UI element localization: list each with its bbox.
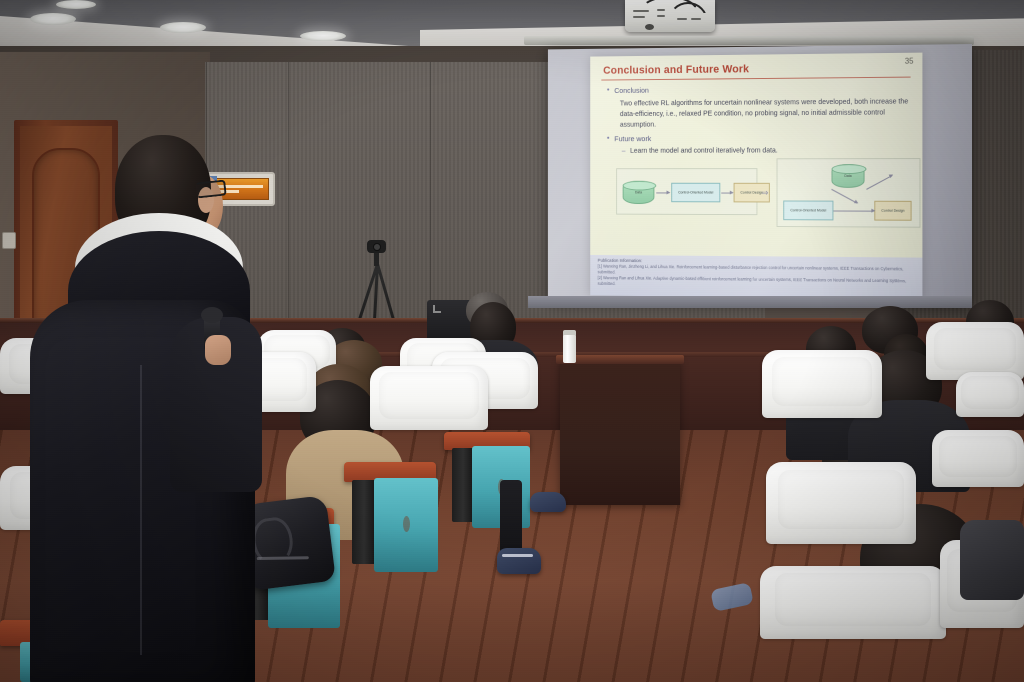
chair-cover bbox=[932, 430, 1024, 487]
chair bbox=[762, 350, 882, 460]
screen-bottom-bar bbox=[528, 296, 972, 308]
slide-footer: Publication Information: [1] Wanxing Ran… bbox=[590, 255, 922, 299]
projector-lens bbox=[645, 24, 654, 30]
figure-node-label: Data bbox=[844, 174, 851, 178]
camera-lens bbox=[373, 243, 381, 251]
chair-cover bbox=[370, 366, 488, 430]
chair-cover bbox=[766, 462, 916, 544]
ceiling-downlight bbox=[30, 13, 76, 25]
glasses-icon bbox=[195, 179, 227, 198]
light-switch[interactable] bbox=[2, 232, 16, 249]
shoe bbox=[530, 492, 566, 512]
figure-arrow bbox=[833, 211, 874, 212]
presenter-coat-zipper bbox=[140, 365, 142, 655]
tripod-column bbox=[374, 252, 379, 266]
wall-seam bbox=[430, 62, 431, 302]
figure-node-data: Data bbox=[623, 181, 655, 204]
backpack-zipper bbox=[257, 556, 309, 560]
projection-screen: 35 Conclusion and Future Work Conclusion… bbox=[548, 44, 972, 306]
figure-node-model: Control-Oriented Model bbox=[671, 183, 720, 203]
figure-arrow bbox=[831, 189, 857, 204]
figure-node-label: Control Design bbox=[740, 191, 763, 195]
bag bbox=[960, 520, 1024, 600]
figure-node-design: Control Design bbox=[874, 201, 911, 221]
chair-cover bbox=[956, 372, 1024, 417]
figure-node-label: Data bbox=[635, 191, 642, 195]
slide-bullet-conclusion: Conclusion bbox=[607, 84, 913, 95]
figure-node-label: Control-Oriented Model bbox=[678, 191, 713, 195]
projector-vent bbox=[633, 16, 645, 18]
slide-bullet-future-work: Future work bbox=[607, 134, 913, 144]
figure-node-label: Control-Oriented Model bbox=[790, 209, 826, 214]
presenter-hand bbox=[205, 335, 231, 365]
shoe bbox=[497, 548, 541, 574]
figure-left-flow: Data Control-Oriented Model Control Desi… bbox=[616, 169, 757, 216]
water-bottle-cap bbox=[563, 330, 576, 335]
projector-vent bbox=[657, 15, 665, 17]
figure-arrow bbox=[866, 175, 892, 190]
slide-title-rule bbox=[601, 77, 910, 81]
figure-right-flow: Data Control-Oriented Model Control Desi… bbox=[777, 159, 921, 229]
ceiling-downlight bbox=[56, 0, 96, 9]
slide-figure: Data Control-Oriented Model Control Desi… bbox=[605, 159, 907, 233]
presentation-slide: 35 Conclusion and Future Work Conclusion… bbox=[590, 53, 922, 300]
figure-node-data: Data bbox=[831, 165, 864, 189]
chair bbox=[760, 566, 946, 682]
slide-body-conclusion: Two effective RL algorithms for uncertai… bbox=[620, 95, 913, 130]
slide-title: Conclusion and Future Work bbox=[603, 62, 912, 77]
lecture-hall-photo: 35 Conclusion and Future Work Conclusion… bbox=[0, 0, 1024, 682]
figure-implies-symbol: ⇒ bbox=[761, 188, 768, 199]
publication-item: [2] Wanxing Ran and Lihua Xie. Adaptive … bbox=[598, 275, 915, 290]
figure-arrow bbox=[721, 193, 732, 194]
figure-arrow bbox=[656, 193, 669, 194]
microphone-head bbox=[201, 307, 223, 323]
ceiling-downlight bbox=[160, 22, 206, 33]
presenter-desk bbox=[560, 360, 680, 505]
screen-housing bbox=[524, 36, 974, 45]
chair-post bbox=[452, 448, 474, 522]
slide-page-number: 35 bbox=[905, 57, 914, 66]
wall-seam bbox=[288, 62, 289, 342]
slide-subbullet-future-work: Learn the model and control iteratively … bbox=[622, 146, 913, 156]
presenter bbox=[20, 135, 250, 682]
chair-post bbox=[352, 480, 376, 564]
shoe-lace bbox=[502, 554, 533, 557]
ceiling-downlight bbox=[300, 31, 346, 41]
figure-node-model: Control-Oriented Model bbox=[783, 201, 833, 221]
chair-seat bbox=[374, 478, 438, 572]
chair-cover bbox=[762, 350, 882, 418]
chair bbox=[932, 430, 1024, 522]
chair-cover bbox=[760, 566, 946, 639]
water-bottle bbox=[563, 333, 576, 363]
figure-node-label: Control Design bbox=[881, 209, 904, 214]
